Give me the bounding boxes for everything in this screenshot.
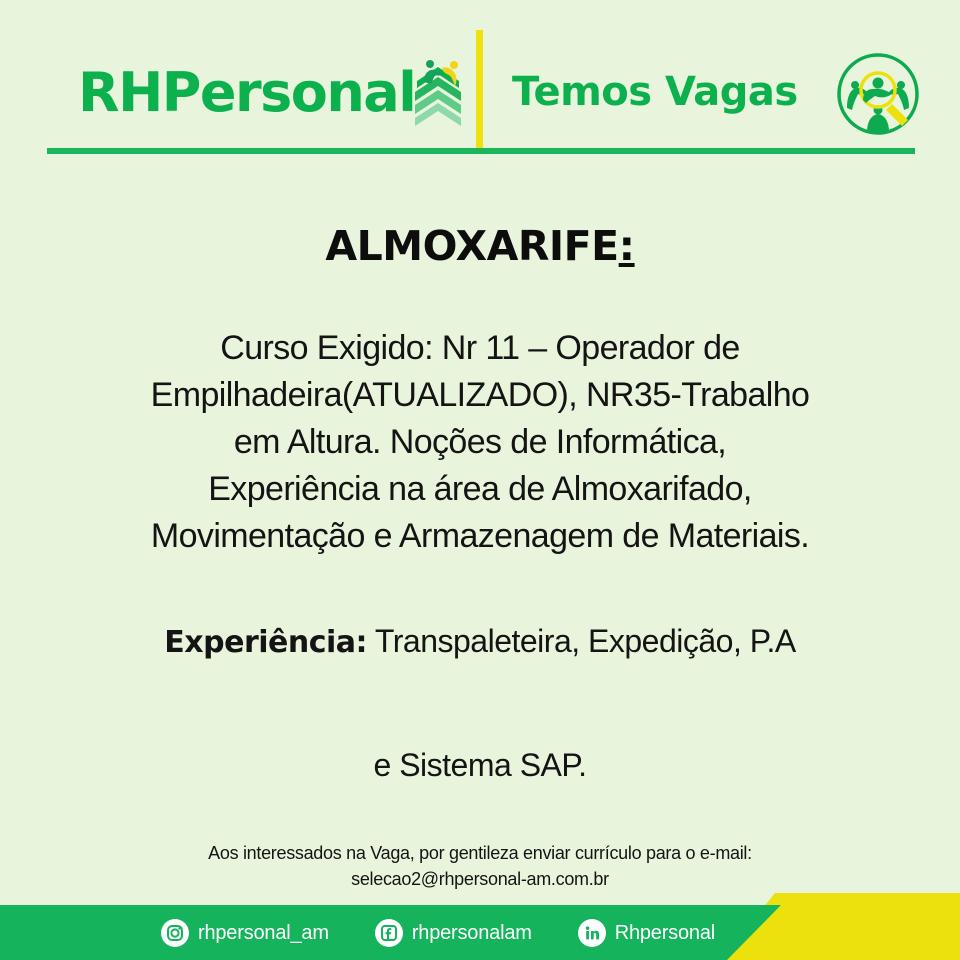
brand-lockup: RHPersonal [78, 56, 465, 130]
social-link-linkedin[interactable]: Rhpersonal [578, 919, 715, 947]
contact-email: selecao2@rhpersonal-am.com.br [110, 866, 850, 892]
linkedin-icon [578, 919, 606, 947]
social-handle-linkedin: Rhpersonal [615, 923, 715, 943]
rhpersonal-magnifier-logo-icon [836, 52, 920, 136]
social-link-instagram[interactable]: rhpersonal_am [161, 919, 329, 947]
facebook-icon [375, 919, 403, 947]
header-tagline: Temos Vagas [512, 72, 798, 112]
social-link-facebook[interactable]: rhpersonalam [375, 919, 532, 947]
requirements-paragraph: Curso Exigido: Nr 11 – Operador de Empil… [150, 325, 810, 560]
social-handle-facebook: rhpersonalam [412, 923, 532, 943]
social-handle-instagram: rhpersonal_am [198, 923, 329, 943]
instagram-icon [161, 919, 189, 947]
header-rule [47, 148, 915, 154]
experience-value: Transpaleteira, Expedição, P.A [375, 623, 796, 659]
rhpersonal-tree-logo-icon [415, 56, 465, 130]
header-vertical-divider [476, 30, 483, 150]
job-vacancy-poster: RHPersonal Temos Vagas [0, 0, 960, 960]
experience-paragraph: Experiência: Transpaleteira, Expedição, … [120, 618, 840, 666]
experience-label: Experiência: [164, 625, 367, 660]
contact-instruction: Aos interessados na Vaga, por gentileza … [110, 840, 850, 866]
page-title: ALMOXARIFE: [0, 222, 960, 270]
job-title-text: ALMOXARIFE [325, 222, 618, 270]
job-title-colon: : [619, 222, 635, 270]
system-line: e Sistema SAP. [120, 745, 840, 785]
social-links-row: rhpersonal_am rhpersonalam [0, 905, 780, 960]
brand-name: RHPersonal [78, 66, 415, 120]
poster-footer: rhpersonal_am rhpersonalam [0, 893, 960, 960]
poster-header: RHPersonal Temos Vagas [0, 0, 960, 160]
contact-block: Aos interessados na Vaga, por gentileza … [110, 840, 850, 892]
